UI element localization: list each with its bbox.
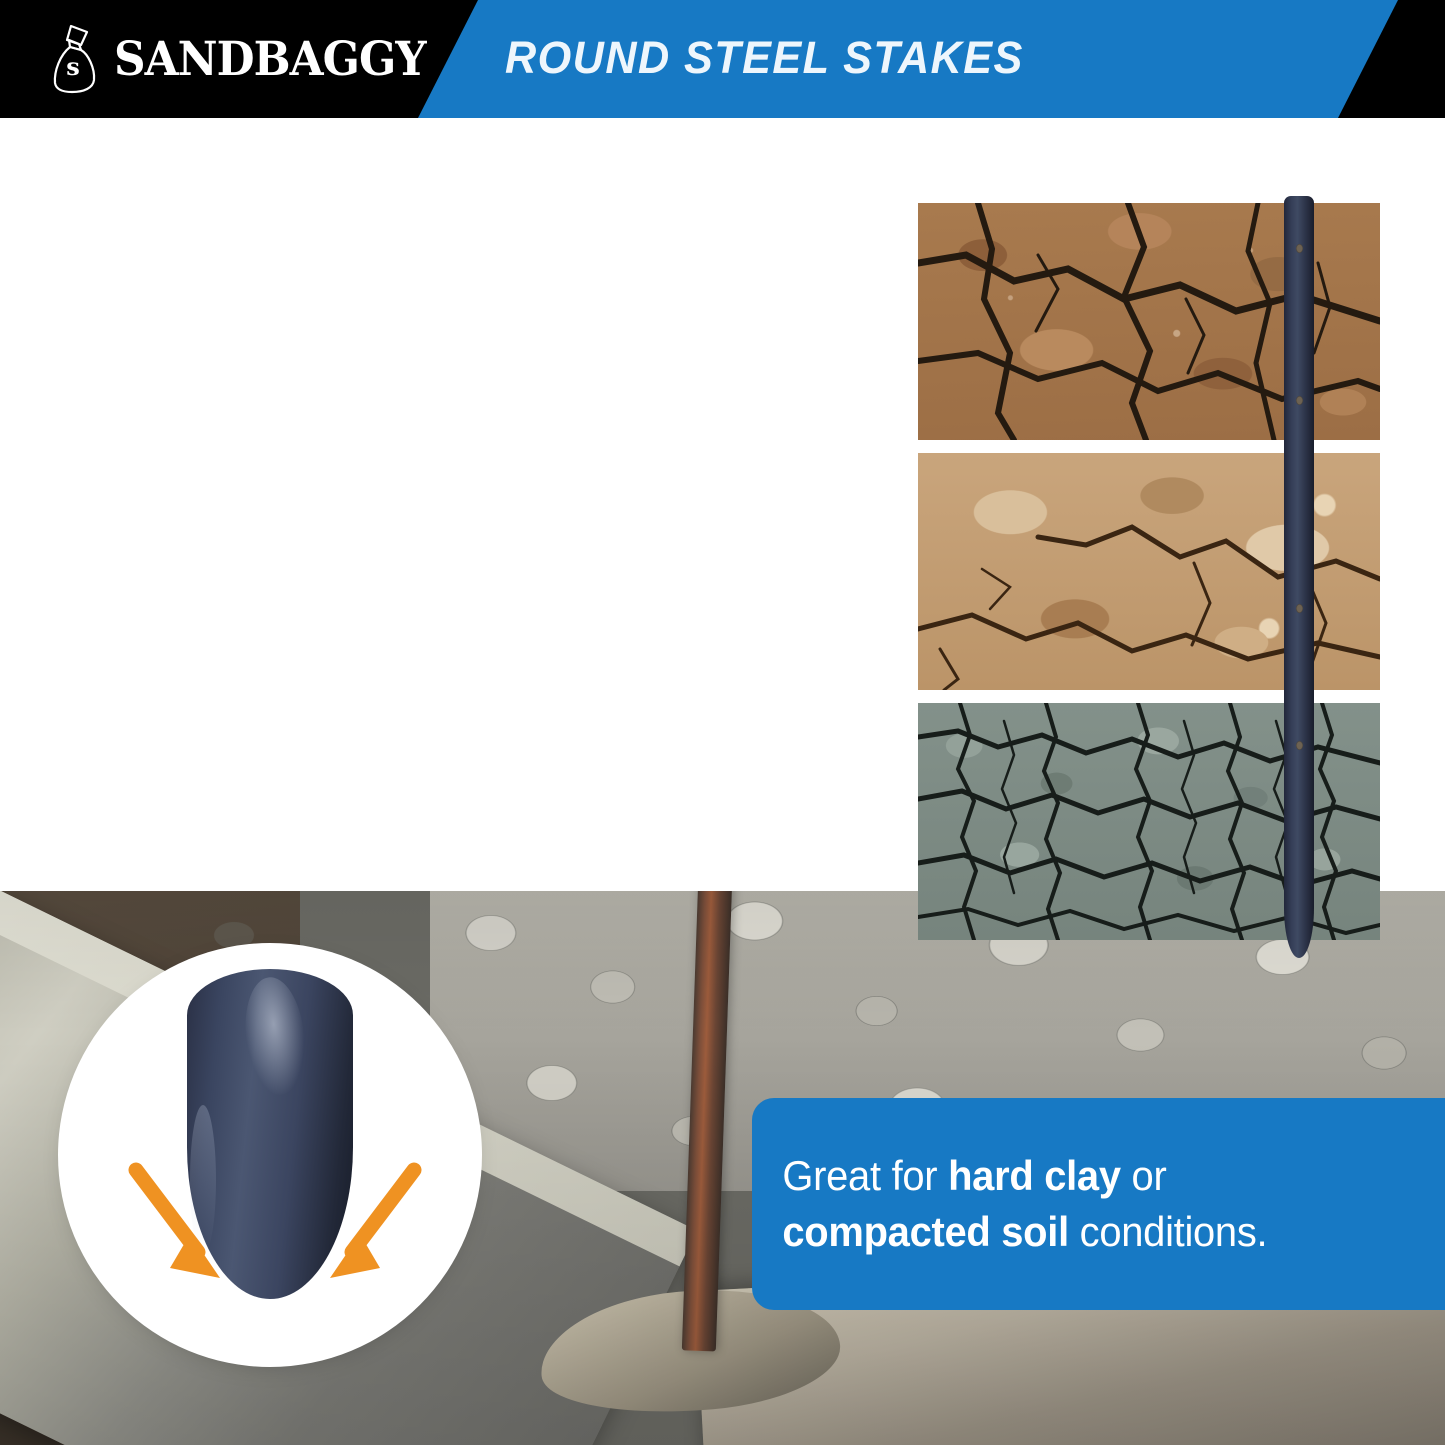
- stake-hole: [1296, 396, 1303, 405]
- taper-arrow-left-icon: [126, 1160, 236, 1290]
- stake-pointed-tip: [1284, 896, 1314, 958]
- stake-hole: [1296, 244, 1303, 253]
- header-bar: s SANDBAGGY ROUND STEEL STAKES: [0, 0, 1445, 118]
- brand-logo[interactable]: s SANDBAGGY: [50, 19, 449, 99]
- stake-tip-closeup-inset: [70, 955, 470, 1355]
- stake-shaft: [1284, 196, 1314, 908]
- logo-letter-s: s: [66, 52, 80, 81]
- round-steel-stake: [1284, 196, 1314, 956]
- plain-text: or: [1121, 1152, 1167, 1199]
- stake-hole: [1296, 741, 1303, 750]
- emphasis-text: compacted soil: [782, 1208, 1068, 1255]
- callout-text: Great for hard clay or compacted soil co…: [752, 1148, 1410, 1261]
- infographic-page: Easy Installation The tapered shape and …: [0, 0, 1445, 1445]
- plain-text: Great for: [782, 1152, 948, 1199]
- plain-text: conditions.: [1069, 1208, 1267, 1255]
- emphasis-text: hard clay: [948, 1152, 1121, 1199]
- stake-hole: [1296, 604, 1303, 613]
- header-title: ROUND STEEL STAKES: [505, 32, 1024, 84]
- brand-wordmark: SANDBAGGY: [114, 36, 426, 83]
- taper-arrow-right-icon: [314, 1160, 424, 1290]
- sandbag-icon: s: [50, 23, 102, 95]
- callout-box: Great for hard clay or compacted soil co…: [752, 1098, 1445, 1310]
